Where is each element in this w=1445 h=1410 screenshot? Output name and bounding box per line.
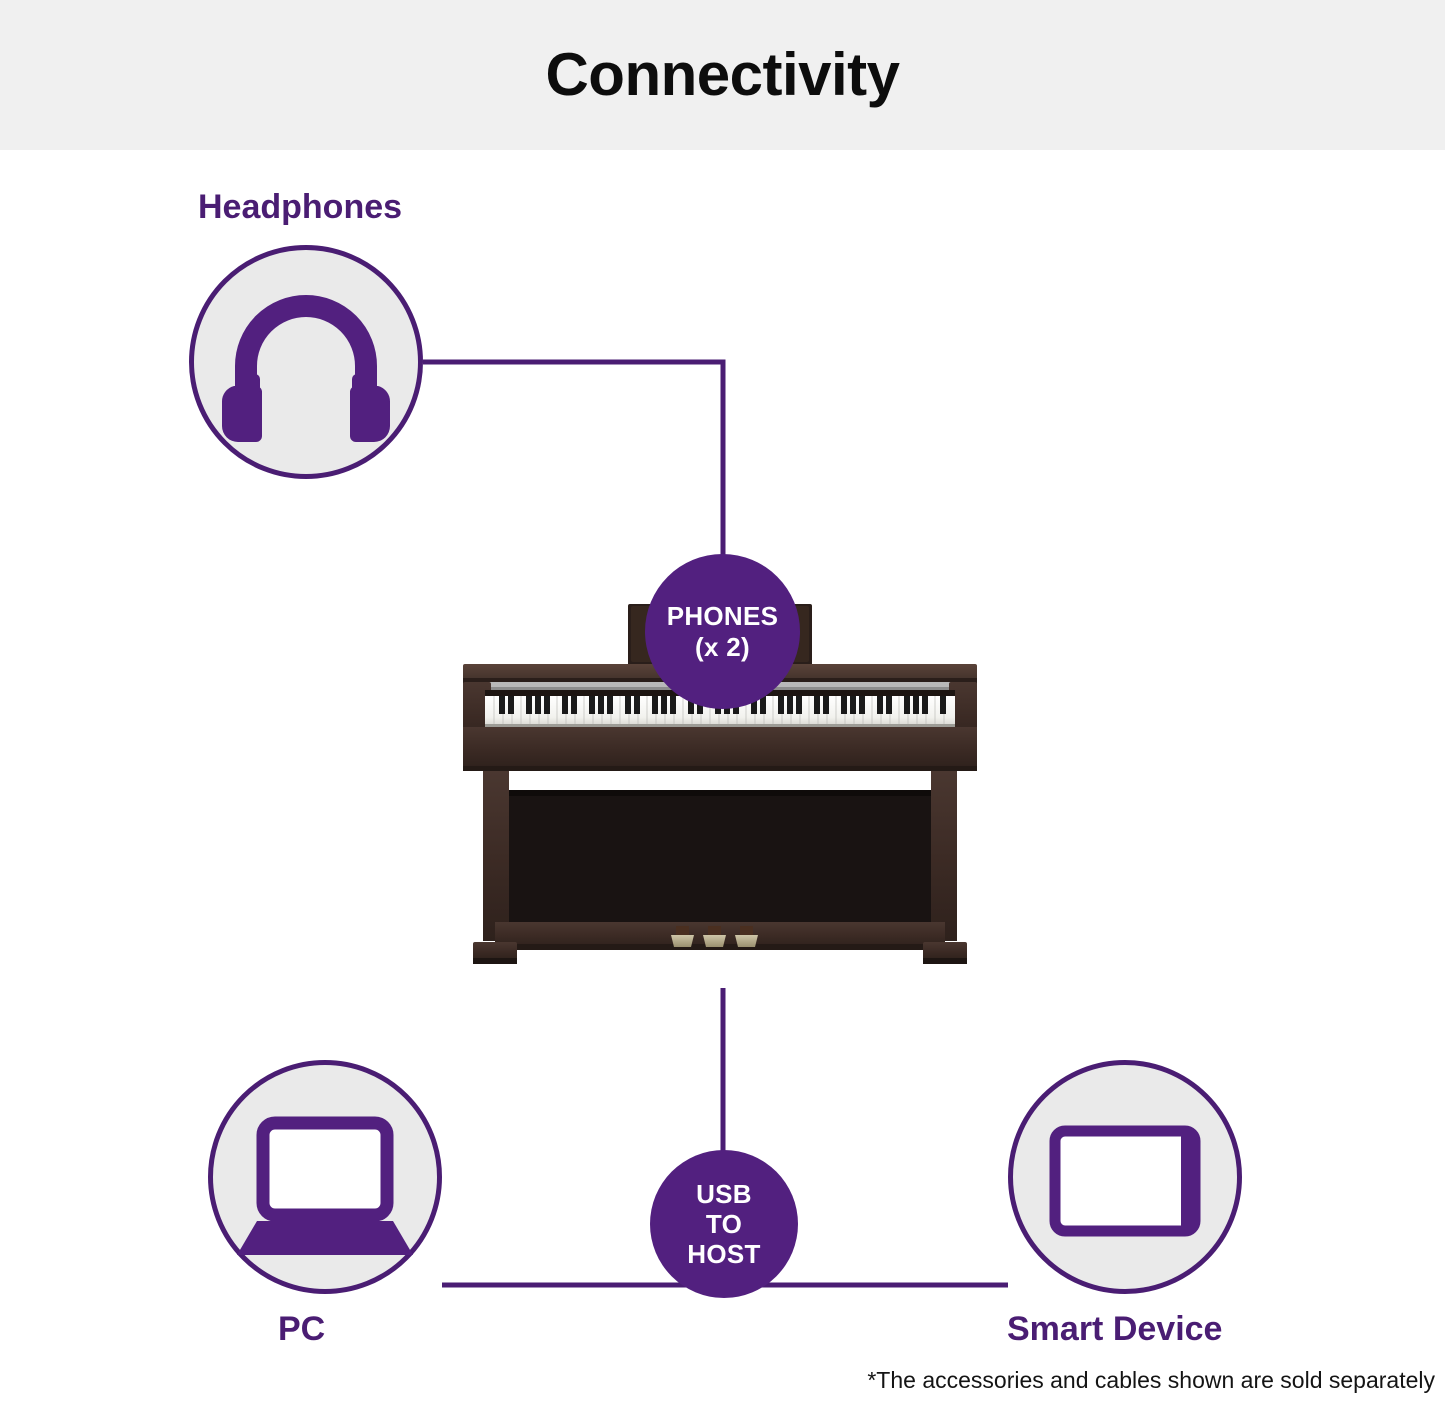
piano-pedals [671,926,758,947]
tablet-icon [1013,1065,1237,1289]
phones-badge-line2: (x 2) [695,632,750,663]
footnote-disclaimer: *The accessories and cables shown are so… [867,1367,1435,1394]
pc-node[interactable] [208,1060,442,1294]
headphones-node[interactable] [189,245,423,479]
connectivity-diagram: Headphones PHONES (x 2) [0,150,1445,1410]
usb-badge-line2: TO [706,1209,742,1239]
piano-back-panel [509,790,931,930]
page-title: Connectivity [0,40,1445,110]
phones-badge-line1: PHONES [667,601,779,632]
smart-device-label: Smart Device [1007,1310,1222,1349]
piano-foot-left [473,942,517,960]
laptop-icon [213,1065,437,1289]
headphones-icon [194,250,418,474]
usb-to-host-badge[interactable]: USB TO HOST [650,1150,798,1298]
line-headphones-to-phones [423,362,723,570]
usb-badge-line1: USB [696,1179,752,1209]
piano-front-board [463,727,977,769]
usb-badge-line3: HOST [687,1239,760,1269]
phones-port-badge[interactable]: PHONES (x 2) [645,554,800,709]
piano-foot-right [923,942,967,960]
smart-device-node[interactable] [1008,1060,1242,1294]
piano-leg-left [483,771,509,941]
piano-leg-right [931,771,957,941]
headphones-label: Headphones [198,188,402,227]
pc-label: PC [278,1310,325,1349]
